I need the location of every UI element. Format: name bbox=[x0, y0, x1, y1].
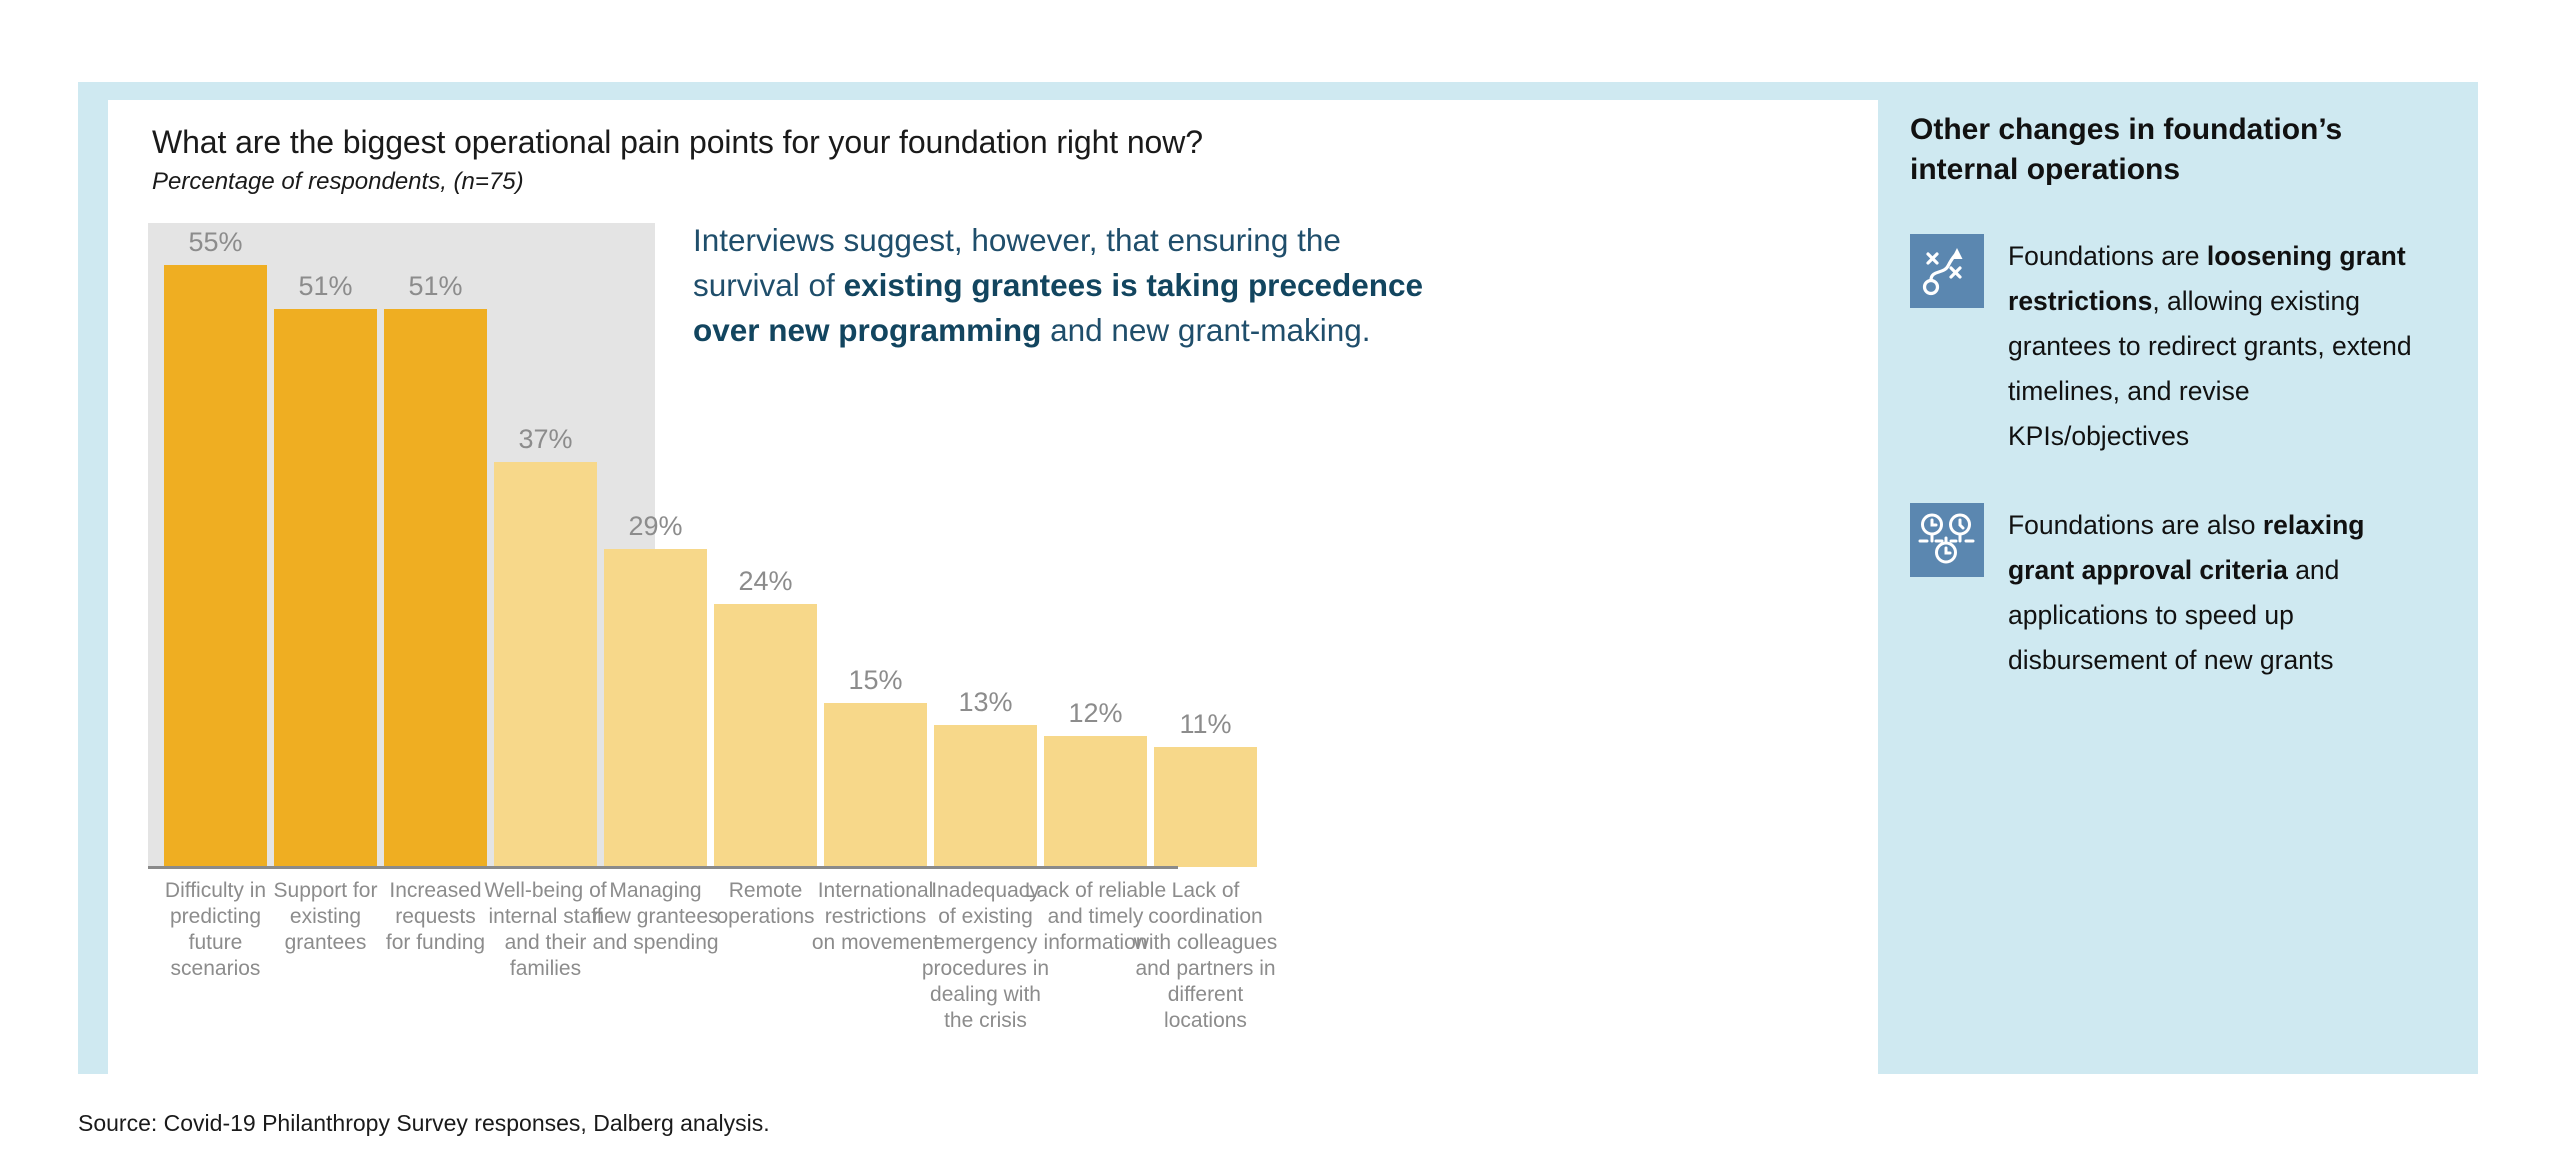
sidebar-panel: Other changes in foundation’s internal o… bbox=[1910, 110, 2450, 683]
sidebar-title: Other changes in foundation’s internal o… bbox=[1910, 110, 2430, 190]
bar bbox=[1044, 736, 1147, 867]
bar-value-label: 37% bbox=[466, 424, 626, 455]
bar-category-label: Lack ofcoordinationwith colleaguesand pa… bbox=[1134, 878, 1278, 1034]
bar-value-label: 55% bbox=[136, 227, 296, 258]
bar-value-label: 24% bbox=[686, 566, 846, 597]
strategy-path-icon bbox=[1910, 234, 1984, 308]
bar bbox=[934, 725, 1037, 867]
sidebar-item-text: Foundations are also relaxing grant appr… bbox=[2008, 503, 2438, 683]
sidebar-item-relaxing-criteria: Foundations are also relaxing grant appr… bbox=[1910, 503, 2450, 683]
bar bbox=[164, 265, 267, 867]
bar bbox=[1154, 747, 1257, 867]
clock-pins-icon bbox=[1910, 503, 1984, 577]
bar-value-label: 51% bbox=[356, 271, 516, 302]
bar bbox=[274, 309, 377, 867]
source-note: Source: Covid-19 Philanthropy Survey res… bbox=[78, 1110, 770, 1137]
sidebar-item-text: Foundations are loosening grant restrict… bbox=[2008, 234, 2438, 459]
sidebar-item-loosening-restrictions: Foundations are loosening grant restrict… bbox=[1910, 234, 2450, 459]
bar bbox=[824, 703, 927, 867]
annotation-callout: Interviews suggest, however, that ensuri… bbox=[693, 218, 1453, 353]
chart-card: What are the biggest operational pain po… bbox=[108, 100, 1878, 1080]
bar bbox=[714, 604, 817, 867]
bar-value-label: 11% bbox=[1126, 709, 1286, 740]
bar bbox=[384, 309, 487, 867]
infographic-root: What are the biggest operational pain po… bbox=[0, 0, 2560, 1167]
x-axis-line bbox=[148, 866, 1178, 869]
bar-value-label: 29% bbox=[576, 511, 736, 542]
